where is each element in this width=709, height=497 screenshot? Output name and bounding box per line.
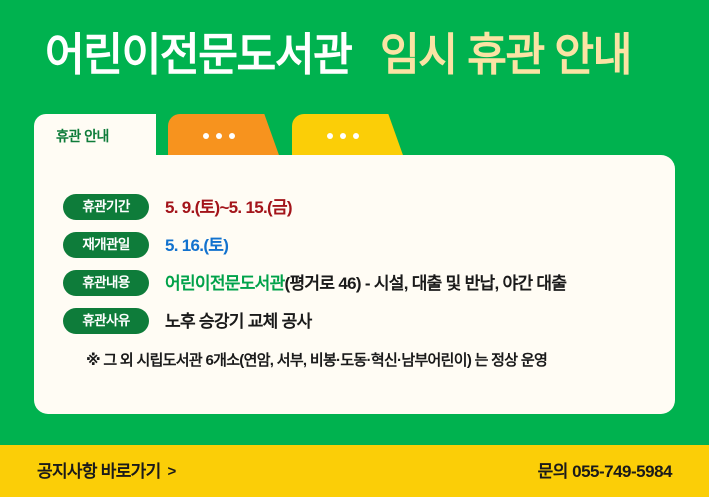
ellipsis-icon: [203, 133, 235, 139]
value-closure-period: 5. 9.(토)~5. 15.(금): [165, 199, 292, 216]
detail-row-reopen-date: 재개관일 5. 16.(토): [63, 226, 653, 264]
detail-row-closure-reason: 휴관사유 노후 승강기 교체 공사: [63, 302, 653, 340]
value-closure-scope-library: 어린이전문도서관: [165, 274, 285, 293]
tab-closure-notice[interactable]: 휴관 안내: [34, 114, 156, 158]
other-libraries-note: ※ 그 외 시립도서관 6개소(연암, 서부, 비봉·도동·혁신·남부어린이) …: [86, 353, 547, 368]
dot-icon: [327, 133, 333, 139]
banner-footer: 공지사항 바로가기 > 문의 055-749-5984: [0, 445, 709, 497]
value-closure-scope: 어린이전문도서관(평거로 46) - 시설, 대출 및 반납, 야간 대출: [165, 275, 566, 292]
chevron-right-icon: >: [168, 464, 176, 479]
detail-row-closure-period: 휴관기간 5. 9.(토)~5. 15.(금): [63, 188, 653, 226]
detail-row-closure-scope: 휴관내용 어린이전문도서관(평거로 46) - 시설, 대출 및 반납, 야간 …: [63, 264, 653, 302]
library-closure-notice-banner: 어린이전문도서관 임시 휴관 안내 휴관 안내 휴관기간: [0, 0, 709, 497]
dot-icon: [229, 133, 235, 139]
banner-title: 어린이전문도서관 임시 휴관 안내: [45, 21, 685, 87]
badge-closure-scope: 휴관내용: [63, 270, 149, 296]
value-closure-reason: 노후 승강기 교체 공사: [165, 313, 312, 330]
notice-board-link[interactable]: 공지사항 바로가기 >: [37, 463, 176, 480]
dot-icon: [203, 133, 209, 139]
notice-board-link-label: 공지사항 바로가기: [37, 463, 161, 480]
dot-icon: [353, 133, 359, 139]
title-main-text: 어린이전문도서관: [45, 32, 351, 77]
ellipsis-icon: [327, 133, 359, 139]
dot-icon: [340, 133, 346, 139]
badge-closure-period: 휴관기간: [63, 194, 149, 220]
tab-bar: 휴관 안내: [34, 114, 404, 158]
tab-orange-placeholder[interactable]: [168, 114, 280, 158]
dot-icon: [216, 133, 222, 139]
tab-closure-notice-label: 휴관 안내: [56, 129, 109, 143]
title-accent-text: 임시 휴관 안내: [380, 32, 631, 77]
badge-closure-reason: 휴관사유: [63, 308, 149, 334]
value-closure-scope-detail: (평거로 46) - 시설, 대출 및 반납, 야간 대출: [285, 274, 567, 293]
contact-phone: 문의 055-749-5984: [538, 463, 672, 480]
badge-reopen-date: 재개관일: [63, 232, 149, 258]
tab-yellow-placeholder[interactable]: [292, 114, 404, 158]
value-reopen-date: 5. 16.(토): [165, 237, 228, 254]
notice-card: 휴관기간 5. 9.(토)~5. 15.(금) 재개관일 5. 16.(토) 휴…: [34, 155, 675, 414]
notice-detail-list: 휴관기간 5. 9.(토)~5. 15.(금) 재개관일 5. 16.(토) 휴…: [63, 188, 653, 340]
